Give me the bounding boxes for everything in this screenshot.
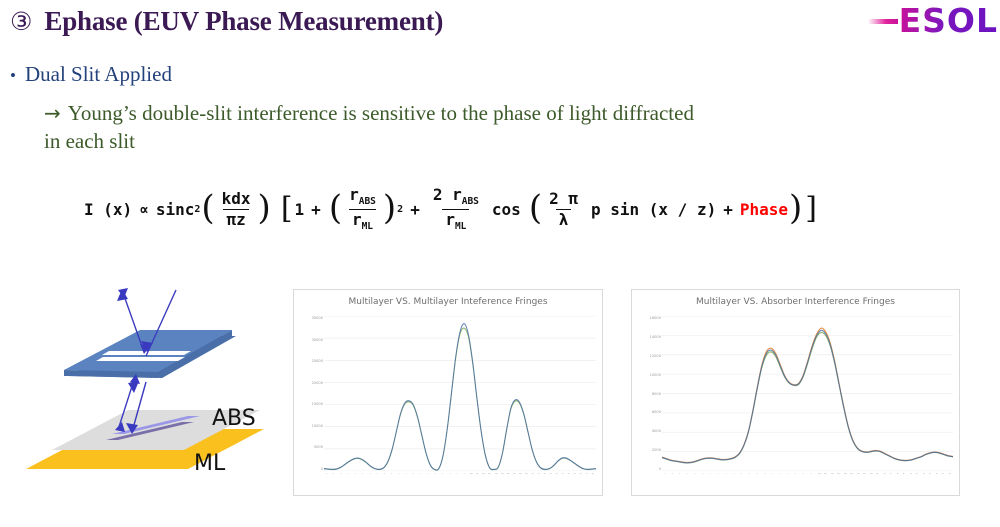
ml-label: ML <box>194 451 226 476</box>
x-tick-label: -1.2 <box>724 473 731 475</box>
logo-text: ESOL <box>899 4 998 37</box>
x-tick-label: 1.1 <box>888 473 894 475</box>
x-tick-label: 1.4 <box>908 473 914 475</box>
x-tick-label: -0.2 <box>801 473 808 475</box>
x-tick-label: -1.5 <box>701 473 708 475</box>
x-tick-label: -1.5 <box>360 473 367 475</box>
chart-title: Multilayer VS. Absorber Interference Fri… <box>632 297 959 307</box>
bullet-dot-icon: • <box>10 67 16 84</box>
y-tick-label: 25000 <box>312 359 323 363</box>
x-tick-label: 0.6 <box>506 473 512 475</box>
y-tick-label: 0 <box>659 467 661 471</box>
r-symbol: r <box>445 210 455 229</box>
x-tick-label: 2.0 <box>947 473 953 475</box>
y-tick-label: 0 <box>321 467 323 471</box>
x-tick-label: 2.0 <box>590 473 596 475</box>
bullet-dual-slit: • Dual Slit Applied <box>10 62 172 87</box>
x-tick-label: -1.3 <box>716 473 723 475</box>
arrow-right-icon: → <box>44 101 61 125</box>
abs-label: ABS <box>212 406 256 431</box>
page-title: Ephase (EUV Phase Measurement) <box>44 6 443 37</box>
x-tick-label: -2.0 <box>324 473 331 475</box>
y-axis-labels: 35000300002500020000150001000050000 <box>296 316 323 471</box>
y-tick-label: 8000 <box>652 392 661 396</box>
paren-close-3: ) <box>789 195 802 223</box>
fraction-exponent: 2 <box>397 204 403 215</box>
x-tick-label: -0.3 <box>793 473 800 475</box>
y-tick-label: 10000 <box>650 373 661 377</box>
formula-one: 1 <box>295 200 305 219</box>
paren-open-3: ( <box>529 195 542 223</box>
x-tick-label: 1.7 <box>927 473 933 475</box>
bullet-dual-slit-label: Dual Slit Applied <box>25 62 172 87</box>
y-tick-label: 4000 <box>652 429 661 433</box>
x-tick-label: -0.6 <box>426 473 433 475</box>
y-tick-label: 16000 <box>650 316 661 320</box>
r-subscript: ABS <box>462 196 479 207</box>
x-tick-label: 0.5 <box>849 473 855 475</box>
x-tick-label: 1.8 <box>934 473 940 475</box>
x-tick-label: -1.4 <box>368 473 375 475</box>
y-tick-label: 10000 <box>312 424 323 428</box>
sub-bullet-line-1: Young’s double-slit interference is sens… <box>68 101 694 125</box>
y-tick-label: 14000 <box>650 335 661 339</box>
y-tick-label: 12000 <box>650 354 661 358</box>
bracket-open: [ <box>281 197 293 222</box>
fraction-rabs-rml-1: rABS rML <box>346 186 379 233</box>
fraction-denominator: rML <box>349 209 376 233</box>
x-tick-label: -1.8 <box>677 473 684 475</box>
y-tick-label: 35000 <box>312 316 323 320</box>
slide: ③ Ephase (EUV Phase Measurement) ESOL • … <box>0 0 1000 527</box>
y-tick-label: 15000 <box>312 402 323 406</box>
formula-cos: cos <box>492 200 521 219</box>
fraction-numerator: 2 rABS <box>430 186 482 209</box>
x-tick-label: 1.0 <box>530 473 536 475</box>
x-tick-label: -1.7 <box>685 473 692 475</box>
x-tick-label: 1.3 <box>901 473 907 475</box>
formula-proportional-icon: ∝ <box>139 200 149 219</box>
r-subscript: ABS <box>359 196 376 207</box>
x-tick-label: 0.2 <box>830 473 836 475</box>
x-tick-label: -1.3 <box>375 473 382 475</box>
x-tick-label: 1.9 <box>940 473 946 475</box>
r-symbol: r <box>352 210 362 229</box>
fraction-2pi-lambda: 2 π λ <box>546 190 581 229</box>
chart-panel-multilayer-multilayer: Multilayer VS. Multilayer Inteference Fr… <box>293 289 603 496</box>
x-tick-label: 1.5 <box>914 473 920 475</box>
logo-dash-icon <box>868 19 898 24</box>
x-tick-label: -0.8 <box>411 473 418 475</box>
x-tick-label: 1.1 <box>536 473 542 475</box>
x-tick-label: 1.7 <box>572 473 578 475</box>
x-tick-label: -1.1 <box>732 473 739 475</box>
x-tick-label: -0.2 <box>455 473 462 475</box>
paren-close-1: ) <box>258 195 271 223</box>
x-tick-label: 0.0 <box>817 473 823 475</box>
plot-area <box>324 316 596 471</box>
x-tick-label: 0.4 <box>494 473 500 475</box>
x-tick-label: -0.9 <box>404 473 411 475</box>
formula-phase-term: Phase <box>740 200 788 219</box>
x-tick-label: 0.9 <box>524 473 530 475</box>
formula-plus-3: + <box>723 200 733 219</box>
section-number: ③ <box>10 9 32 34</box>
x-tick-label: 0.7 <box>512 473 518 475</box>
y-axis-labels: 1600014000120001000080006000400020000 <box>634 316 661 471</box>
x-tick-label: -0.8 <box>755 473 762 475</box>
x-tick-label: -0.1 <box>462 473 469 475</box>
r-symbol: 2 r <box>433 185 462 204</box>
y-tick-label: 6000 <box>652 410 661 414</box>
x-tick-label: 0.1 <box>823 473 829 475</box>
x-tick-label: -1.6 <box>693 473 700 475</box>
x-tick-label: -0.1 <box>809 473 816 475</box>
x-tick-label: 0.8 <box>869 473 875 475</box>
x-tick-label: 0.7 <box>862 473 868 475</box>
x-tick-label: 1.2 <box>895 473 901 475</box>
x-tick-label: -1.2 <box>382 473 389 475</box>
x-tick-label: 1.0 <box>882 473 888 475</box>
x-tick-label: 1.3 <box>548 473 554 475</box>
x-tick-label: 1.9 <box>584 473 590 475</box>
formula-tail: p sin (x / z) <box>591 200 716 219</box>
x-tick-label: -1.6 <box>353 473 360 475</box>
formula-sinc-exponent: 2 <box>194 204 200 215</box>
x-tick-label: -2.0 <box>662 473 669 475</box>
slide-header: ③ Ephase (EUV Phase Measurement) <box>10 6 443 37</box>
x-tick-label: -0.5 <box>778 473 785 475</box>
x-tick-label: -1.9 <box>331 473 338 475</box>
y-tick-label: 30000 <box>312 338 323 342</box>
x-tick-label: -1.8 <box>339 473 346 475</box>
fraction-denominator: λ <box>556 209 572 229</box>
plot-area <box>662 316 953 471</box>
x-tick-label: 0.8 <box>518 473 524 475</box>
x-tick-label: -1.1 <box>389 473 396 475</box>
x-tick-label: 1.2 <box>542 473 548 475</box>
x-tick-label: -1.7 <box>346 473 353 475</box>
chart-panel-multilayer-absorber: Multilayer VS. Absorber Interference Fri… <box>631 289 960 496</box>
x-tick-label: 1.5 <box>560 473 566 475</box>
fraction-numerator: rABS <box>346 186 379 209</box>
chart-title: Multilayer VS. Multilayer Inteference Fr… <box>294 297 602 307</box>
dual-slit-schematic: ABS ML <box>16 282 281 512</box>
x-axis-labels: -2.0-1.9-1.8-1.7-1.6-1.5-1.4-1.3-1.2-1.1… <box>324 473 596 492</box>
x-tick-label: -0.5 <box>433 473 440 475</box>
fraction-numerator: kdx <box>219 190 254 209</box>
x-tick-label: -1.0 <box>397 473 404 475</box>
x-axis-labels: -2.0-1.9-1.8-1.7-1.6-1.5-1.4-1.3-1.2-1.1… <box>662 473 953 492</box>
paren-close-2: ) <box>383 195 396 223</box>
fraction-kdx-piz: kdx πz <box>219 190 254 229</box>
x-tick-label: 1.4 <box>554 473 560 475</box>
x-tick-label: -0.4 <box>786 473 793 475</box>
x-tick-label: -0.3 <box>448 473 455 475</box>
x-tick-label: 0.5 <box>500 473 506 475</box>
esol-logo: ESOL <box>868 4 998 37</box>
x-tick-label: -0.9 <box>747 473 754 475</box>
x-tick-label: -0.7 <box>418 473 425 475</box>
y-tick-label: 5000 <box>314 445 323 449</box>
x-tick-label: 1.6 <box>566 473 572 475</box>
r-subscript: ML <box>455 221 466 232</box>
x-tick-label: 1.6 <box>921 473 927 475</box>
x-tick-label: -1.0 <box>739 473 746 475</box>
fraction-denominator: rML <box>442 209 469 233</box>
x-tick-label: -0.6 <box>770 473 777 475</box>
x-tick-label: 0.6 <box>856 473 862 475</box>
sub-bullet-block: →Young’s double-slit interference is sen… <box>44 100 944 156</box>
fraction-numerator: 2 π <box>546 190 581 209</box>
x-tick-label: -1.4 <box>708 473 715 475</box>
y-tick-label: 2000 <box>652 448 661 452</box>
formula-plus-2: + <box>410 200 420 219</box>
mask-plate-icon <box>64 330 236 378</box>
x-tick-label: 0.3 <box>836 473 842 475</box>
paren-open-2: ( <box>329 195 342 223</box>
bracket-close: ] <box>805 197 817 222</box>
x-tick-label: 0.4 <box>843 473 849 475</box>
r-subscript: ML <box>362 221 373 232</box>
formula-sinc: sinc <box>156 200 195 219</box>
x-tick-label: 0.9 <box>875 473 881 475</box>
formula-lhs: I (x) <box>84 200 132 219</box>
x-tick-label: -0.4 <box>440 473 447 475</box>
x-tick-label: -0.7 <box>763 473 770 475</box>
fraction-2rabs-rml: 2 rABS rML <box>430 186 482 233</box>
x-tick-label: -1.9 <box>670 473 677 475</box>
formula-plus-1: + <box>311 200 321 219</box>
x-tick-label: 1.8 <box>578 473 584 475</box>
r-symbol: r <box>349 185 359 204</box>
y-tick-label: 20000 <box>312 381 323 385</box>
intensity-formula: I (x) ∝ sinc2 ( kdx πz ) [ 1 + ( rABS rM… <box>84 186 819 233</box>
fraction-denominator: πz <box>223 209 248 229</box>
x-tick-label: 0.3 <box>487 473 493 475</box>
paren-open-1: ( <box>201 195 214 223</box>
sub-bullet-line-2: in each slit <box>44 129 135 153</box>
